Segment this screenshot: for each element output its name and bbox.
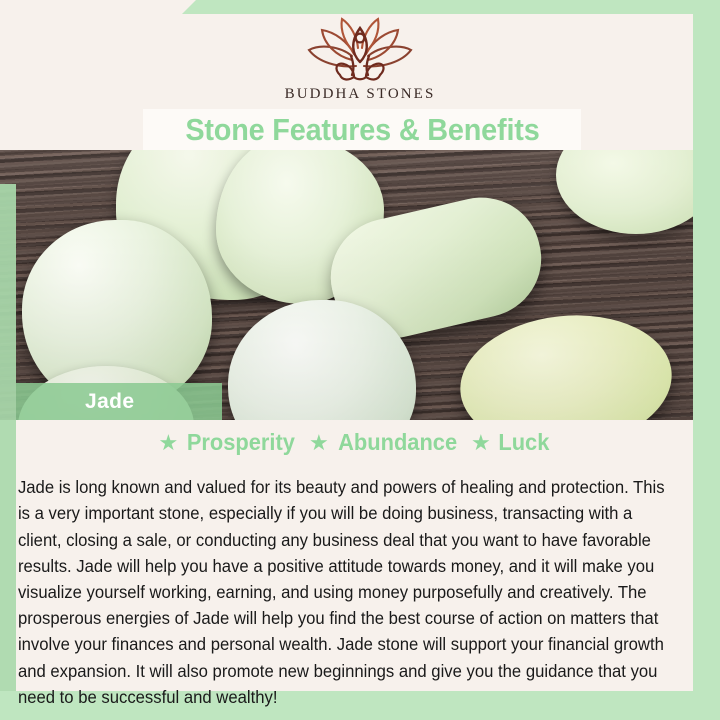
benefit-label: Abundance <box>338 429 457 456</box>
page-title: Stone Features & Benefits <box>185 112 539 148</box>
stone-name-label: Jade <box>16 383 222 420</box>
benefit-luck: ★ Luck <box>471 429 550 456</box>
lotus-meditation-icon <box>304 12 416 84</box>
brand-wordmark: BUDDHA STONES <box>0 86 720 103</box>
benefits-row: ★ Prosperity ★ Abundance ★ Luck <box>16 429 693 456</box>
stone-name-text: Jade <box>85 390 134 414</box>
star-icon: ★ <box>309 432 329 454</box>
photo-gloss-overlay <box>0 150 693 420</box>
benefit-prosperity: ★ Prosperity <box>159 429 299 456</box>
brand-logo: BUDDHA STONES <box>0 12 720 103</box>
benefit-label: Prosperity <box>187 429 295 456</box>
star-icon: ★ <box>159 432 179 454</box>
left-green-accent-strip <box>0 184 16 691</box>
title-banner: Stone Features & Benefits <box>143 109 581 150</box>
stone-description: Jade is long known and valued for its be… <box>16 474 677 710</box>
jade-stones-photo <box>0 150 693 420</box>
benefit-abundance: ★ Abundance <box>309 429 460 456</box>
star-icon: ★ <box>471 432 491 454</box>
benefit-label: Luck <box>498 429 549 456</box>
stone-info-card: BUDDHA STONES Stone Features & Benefits … <box>0 0 720 720</box>
